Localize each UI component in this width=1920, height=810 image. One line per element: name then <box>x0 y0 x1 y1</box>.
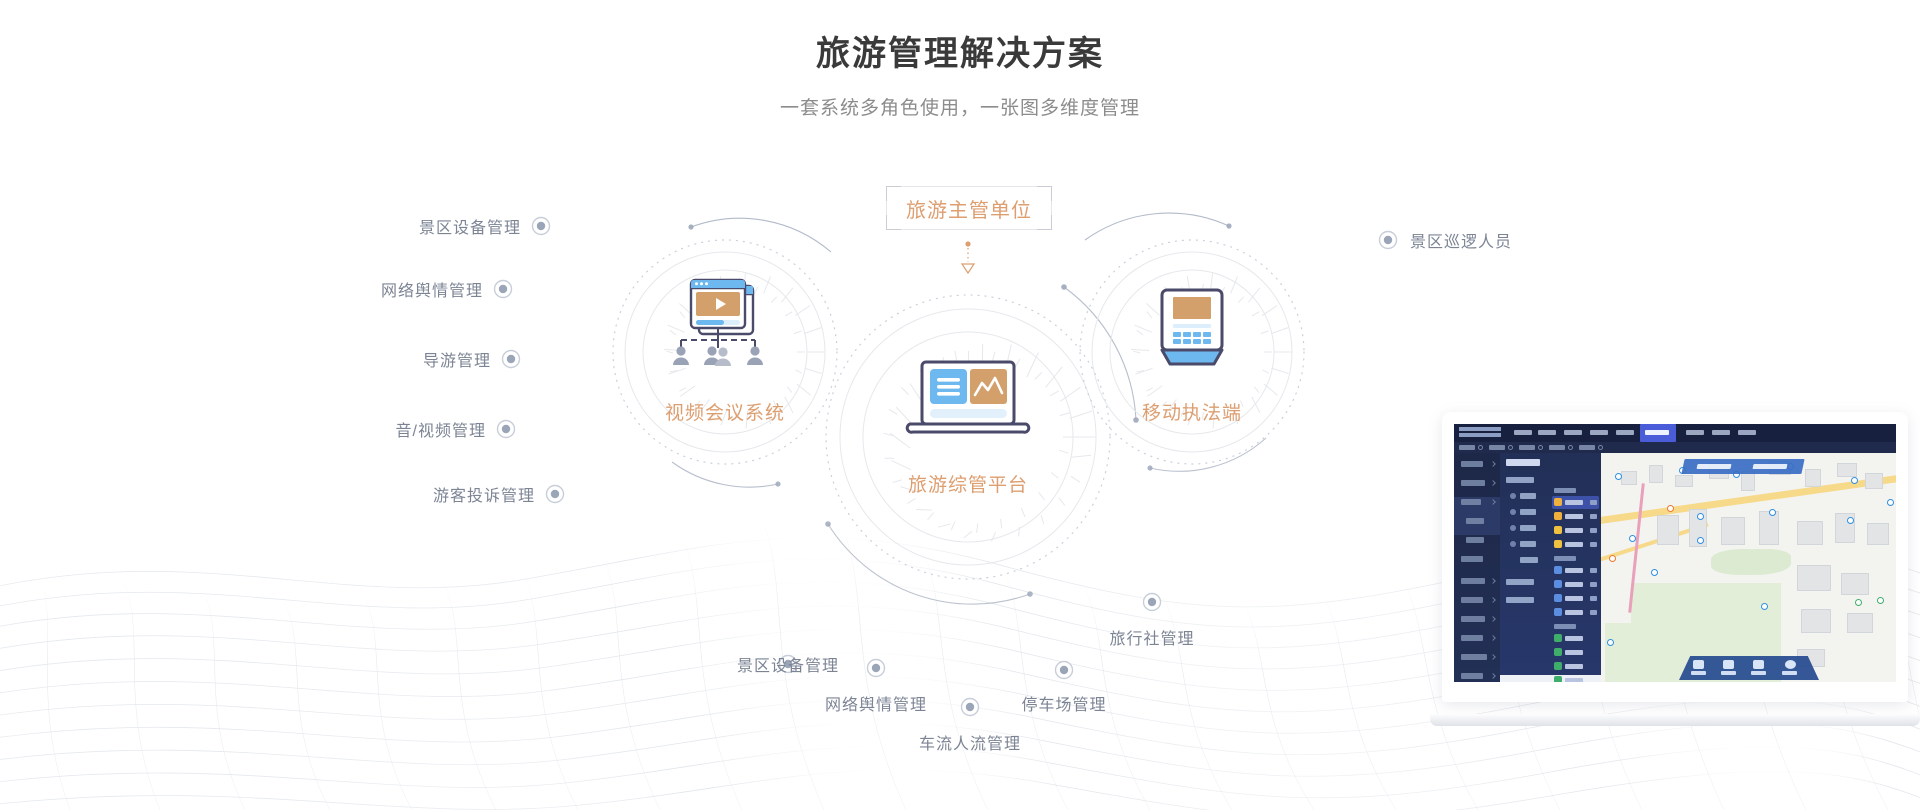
left-connectors <box>495 218 647 503</box>
map-layer-control[interactable] <box>1681 459 1804 474</box>
dashboard-sidebar[interactable] <box>1454 453 1500 682</box>
node-label-video-conference[interactable]: 视频会议系统 <box>665 398 785 425</box>
left-label-tourist-complaint[interactable]: 游客投诉管理 <box>433 482 535 506</box>
dashboard-screen <box>1454 424 1896 682</box>
page-subtitle: 一套系统多角色使用，一张图多维度管理 <box>0 93 1920 120</box>
box-corner-bottom-right <box>1037 215 1052 230</box>
dashboard-tabbar[interactable] <box>1454 442 1896 453</box>
box-corner-top-right <box>1037 186 1052 201</box>
box-edge-top <box>900 186 1038 187</box>
right-label-patrol-staff[interactable]: 景区巡逻人员 <box>1410 228 1512 252</box>
dashboard-logo <box>1459 427 1501 438</box>
node-label-mobile-enforcement[interactable]: 移动执法端 <box>1142 398 1242 425</box>
page-title: 旅游管理解决方案 <box>0 34 1920 75</box>
bottom-label-travel-agency[interactable]: 旅行社管理 <box>1109 625 1194 649</box>
node-circle-tourism-platform <box>825 284 1139 604</box>
gov-unit-label: 旅游主管单位 <box>906 194 1032 223</box>
box-corner-bottom-left <box>886 215 901 230</box>
left-label-scenic-equipment[interactable]: 景区设备管理 <box>419 214 521 238</box>
bottom-label-scenic-equipment[interactable]: 景区设备管理 <box>737 652 839 676</box>
bottom-label-parking[interactable]: 停车场管理 <box>1021 691 1106 715</box>
laptop-mockup <box>1430 412 1920 742</box>
box-edge-right <box>1051 200 1052 216</box>
box-corner-top-left <box>886 186 901 201</box>
map-bottom-toolbar[interactable] <box>1679 656 1819 680</box>
gov-unit-box[interactable]: 旅游主管单位 <box>886 186 1052 230</box>
node-label-tourism-platform[interactable]: 旅游综管平台 <box>908 470 1028 497</box>
box-edge-left <box>886 200 887 216</box>
dashboard-topnav[interactable] <box>1454 424 1896 442</box>
box-edge-bottom <box>900 229 1038 230</box>
page-header: 旅游管理解决方案 一套系统多角色使用，一张图多维度管理 <box>0 34 1920 120</box>
gov-unit-connector <box>962 241 974 273</box>
map-canvas[interactable] <box>1601 453 1896 682</box>
page-root: 旅游管理解决方案 一套系统多角色使用，一张图多维度管理 <box>0 0 1920 810</box>
laptop-dashboard-icon <box>907 362 1029 432</box>
left-label-audio-video[interactable]: 音/视频管理 <box>396 417 486 441</box>
region-tree-panel[interactable] <box>1500 453 1601 675</box>
handheld-terminal-icon <box>1162 290 1222 364</box>
bottom-connectors <box>780 540 1161 716</box>
left-label-network-opinion[interactable]: 网络舆情管理 <box>381 277 483 301</box>
left-label-tour-guide[interactable]: 导游管理 <box>423 347 491 371</box>
laptop-base <box>1430 714 1920 726</box>
bottom-label-traffic-flow[interactable]: 车流人流管理 <box>919 730 1021 754</box>
laptop-lid <box>1442 412 1908 702</box>
bottom-label-network-opinion[interactable]: 网络舆情管理 <box>825 691 927 715</box>
right-connectors <box>1300 232 1397 249</box>
video-window-icon <box>673 280 763 366</box>
